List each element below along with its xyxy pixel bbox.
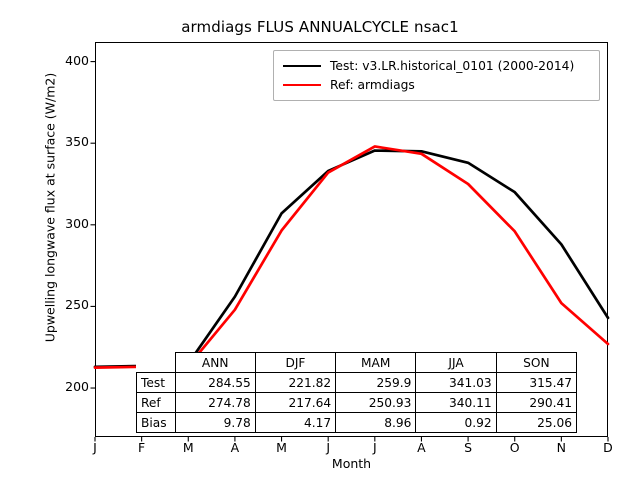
- x-tick-label: J: [313, 440, 343, 455]
- table-cell: 250.93: [336, 393, 416, 413]
- legend-label-test: Test: v3.LR.historical_0101 (2000-2014): [330, 59, 574, 73]
- table-column-header: JJA: [416, 353, 496, 373]
- table-cell: 8.96: [336, 413, 416, 433]
- table-row: Ref274.78217.64250.93340.11290.41: [137, 393, 577, 413]
- table-cell: 259.9: [336, 373, 416, 393]
- x-tick-label: O: [500, 440, 530, 455]
- table-cell: 315.47: [496, 373, 576, 393]
- x-tick-label: F: [127, 440, 157, 455]
- table-column-header: ANN: [175, 353, 255, 373]
- table-cell: 284.55: [175, 373, 255, 393]
- x-tick-label: J: [360, 440, 390, 455]
- table-cell: 217.64: [255, 393, 335, 413]
- x-tick-label: A: [406, 440, 436, 455]
- y-axis-label: Upwelling longwave flux at surface (W/m2…: [43, 0, 58, 418]
- table-row-header: Bias: [137, 413, 176, 433]
- table-cell: 341.03: [416, 373, 496, 393]
- legend-line-icon-test: [283, 65, 321, 67]
- table-cell: 340.11: [416, 393, 496, 413]
- table-row: Bias9.784.178.960.9225.06: [137, 413, 577, 433]
- table-column-header: DJF: [255, 353, 335, 373]
- x-tick-label: S: [453, 440, 483, 455]
- table-column-header: MAM: [336, 353, 416, 373]
- table-header-row: ANNDJFMAMJJASON: [137, 353, 577, 373]
- table-cell: 4.17: [255, 413, 335, 433]
- table-cell: 290.41: [496, 393, 576, 413]
- x-tick-label: A: [220, 440, 250, 455]
- legend-label-ref: Ref: armdiags: [330, 78, 415, 92]
- table-cell: 221.82: [255, 373, 335, 393]
- x-tick-label: N: [546, 440, 576, 455]
- table-corner-cell: [137, 353, 176, 373]
- table-cell: 274.78: [175, 393, 255, 413]
- x-axis-label: Month: [95, 456, 608, 471]
- table-cell: 0.92: [416, 413, 496, 433]
- y-axis-ticks: 200250300350400: [33, 0, 89, 480]
- x-tick-label: M: [173, 440, 203, 455]
- x-tick-label: D: [593, 440, 623, 455]
- chart-legend: Test: v3.LR.historical_0101 (2000-2014) …: [273, 50, 600, 101]
- x-tick-label: J: [80, 440, 110, 455]
- stats-table: ANNDJFMAMJJASONTest284.55221.82259.9341.…: [136, 352, 577, 433]
- table-column-header: SON: [496, 353, 576, 373]
- x-tick-label: M: [267, 440, 297, 455]
- series-line-ref: [95, 146, 608, 367]
- chart-page: armdiags FLUS ANNUALCYCLE nsac1 20025030…: [0, 0, 640, 480]
- table-row: Test284.55221.82259.9341.03315.47: [137, 373, 577, 393]
- legend-line-icon-ref: [283, 84, 321, 86]
- table-row-header: Test: [137, 373, 176, 393]
- table-cell: 25.06: [496, 413, 576, 433]
- legend-entry-ref: Ref: armdiags: [281, 75, 592, 94]
- table-row-header: Ref: [137, 393, 176, 413]
- legend-entry-test: Test: v3.LR.historical_0101 (2000-2014): [281, 56, 592, 75]
- table-cell: 9.78: [175, 413, 255, 433]
